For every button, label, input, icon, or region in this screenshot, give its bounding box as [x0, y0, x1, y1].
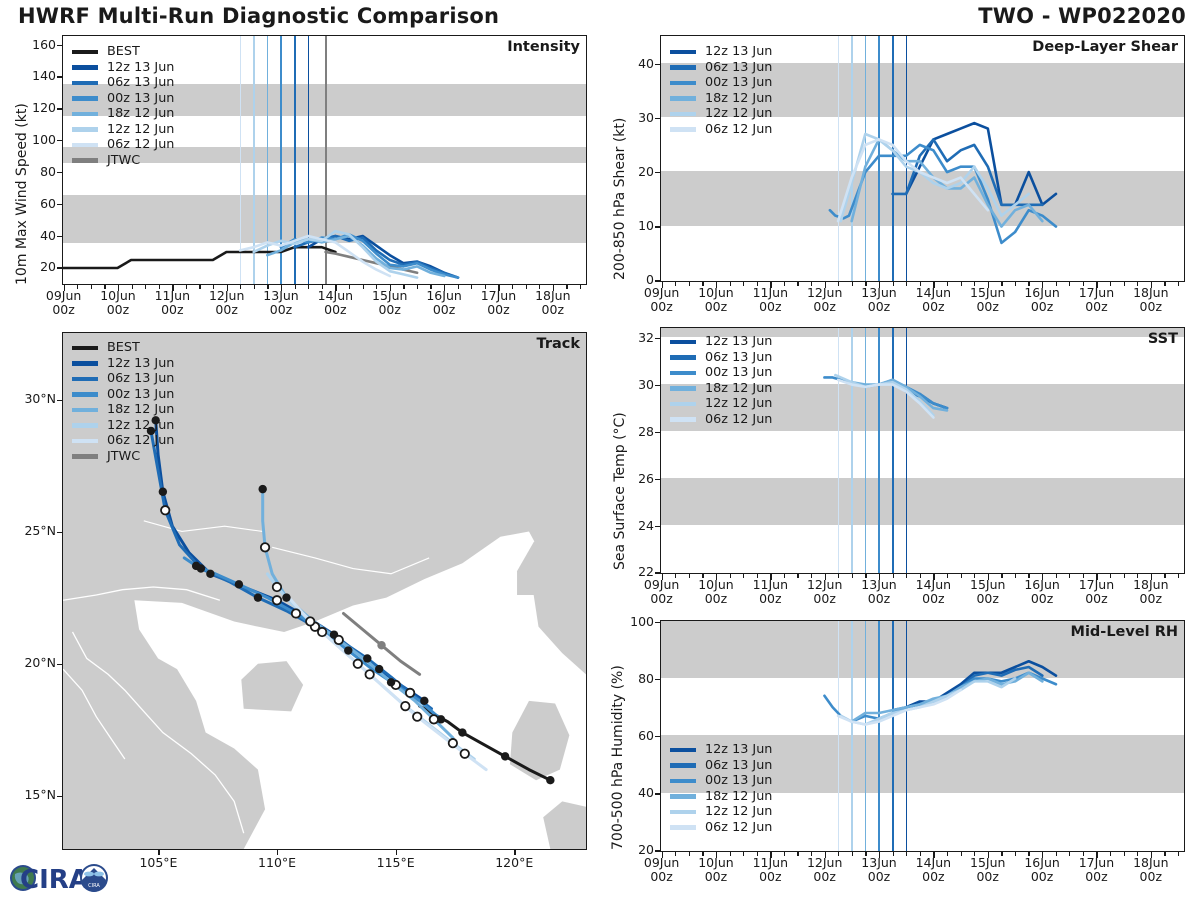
- y-tick-mark: [655, 736, 660, 737]
- lon-tick-mark: [396, 850, 397, 855]
- lat-tick-label: 20°N: [0, 655, 56, 670]
- legend-item: 06z 12 Jun: [72, 137, 174, 153]
- x-tick-mark: [553, 285, 554, 291]
- y-tick-mark: [655, 622, 660, 623]
- legend-label: 18z 12 Jun: [705, 789, 772, 805]
- x-tick-label: 16Jun00z: [1012, 578, 1072, 606]
- legend-item: 06z 12 Jun: [670, 412, 772, 428]
- y-tick-mark: [57, 76, 62, 77]
- x-minor-tick: [295, 285, 296, 289]
- x-minor-tick: [1015, 852, 1016, 856]
- x-tick-hour: 00z: [705, 591, 727, 606]
- x-tick-hour: 00z: [215, 302, 237, 317]
- legend-swatch: [72, 50, 98, 55]
- x-tick-mark: [933, 282, 934, 288]
- x-tick-hour: 00z: [813, 299, 835, 314]
- x-tick-label: 17Jun00z: [1066, 856, 1126, 884]
- x-tick-mark: [770, 852, 771, 858]
- x-tick-mark: [118, 285, 119, 291]
- x-tick-hour: 00z: [650, 869, 672, 884]
- y-tick-label: 28: [612, 424, 654, 439]
- x-minor-tick: [689, 574, 690, 578]
- x-tick-label: 18Jun00z: [523, 289, 583, 317]
- legend-swatch: [670, 417, 696, 422]
- x-tick-mark: [662, 282, 663, 288]
- shear-panel-title: Deep-Layer Shear: [1032, 39, 1178, 55]
- legend-swatch: [72, 346, 98, 351]
- y-tick-label: 120: [14, 100, 56, 115]
- x-minor-tick: [838, 574, 839, 578]
- y-tick-label: 40: [612, 785, 654, 800]
- x-tick-hour: 00z: [1031, 299, 1053, 314]
- x-minor-tick: [1178, 282, 1179, 286]
- x-minor-tick: [838, 282, 839, 286]
- track-marker: [292, 609, 300, 617]
- x-tick-hour: 00z: [542, 302, 564, 317]
- y-tick-label: 32: [612, 330, 654, 345]
- track-marker: [206, 570, 214, 578]
- x-minor-tick: [308, 285, 309, 289]
- y-tick-mark: [655, 850, 660, 851]
- legend-swatch: [72, 361, 98, 366]
- x-tick-mark: [1151, 282, 1152, 288]
- track-marker: [461, 750, 469, 758]
- legend-swatch: [670, 65, 696, 70]
- legend-swatch: [72, 112, 98, 117]
- x-minor-tick: [689, 282, 690, 286]
- x-minor-tick: [1178, 852, 1179, 856]
- x-tick-label: 15Jun00z: [958, 286, 1018, 314]
- legend-swatch: [670, 50, 696, 55]
- x-tick-label: 09Jun00z: [632, 856, 692, 884]
- x-tick-mark: [988, 282, 989, 288]
- x-tick-mark: [825, 852, 826, 858]
- x-tick-hour: 00z: [922, 299, 944, 314]
- y-tick-mark: [655, 172, 660, 173]
- y-tick-label: 30: [612, 377, 654, 392]
- x-tick-mark: [1042, 852, 1043, 858]
- x-minor-tick: [797, 282, 798, 286]
- legend-label: BEST: [107, 44, 140, 60]
- x-tick-mark: [662, 574, 663, 580]
- legend-label: 12z 13 Jun: [705, 742, 772, 758]
- track-marker: [254, 593, 262, 601]
- legend-label: 12z 12 Jun: [705, 804, 772, 820]
- x-minor-tick: [675, 282, 676, 286]
- x-tick-hour: 00z: [1140, 299, 1162, 314]
- x-tick-mark: [879, 574, 880, 580]
- series-line: [838, 380, 933, 418]
- y-tick-mark: [57, 204, 62, 205]
- x-minor-tick: [730, 574, 731, 578]
- x-minor-tick: [743, 282, 744, 286]
- x-tick-hour: 00z: [52, 302, 74, 317]
- lon-tick-mark: [514, 850, 515, 855]
- x-tick-label: 11Jun00z: [740, 286, 800, 314]
- legend-label: 06z 13 Jun: [107, 371, 174, 387]
- legend-item: 06z 13 Jun: [670, 350, 772, 366]
- legend-label: 06z 13 Jun: [107, 75, 174, 91]
- legend-item: 18z 12 Jun: [670, 91, 772, 107]
- x-tick-mark: [444, 285, 445, 291]
- lon-tick-label: 105°E: [123, 856, 193, 870]
- legend-item: 00z 13 Jun: [670, 75, 772, 91]
- x-minor-tick: [77, 285, 78, 289]
- legend-swatch: [670, 127, 696, 132]
- x-minor-tick: [1164, 282, 1165, 286]
- legend-swatch: [72, 127, 98, 132]
- x-minor-tick: [852, 282, 853, 286]
- x-minor-tick: [1069, 574, 1070, 578]
- x-minor-tick: [349, 285, 350, 289]
- legend-label: 18z 12 Jun: [705, 381, 772, 397]
- legend-swatch: [670, 340, 696, 345]
- x-minor-tick: [675, 574, 676, 578]
- x-tick-label: 10Jun00z: [686, 578, 746, 606]
- legend-label: 00z 13 Jun: [107, 91, 174, 107]
- track-marker: [161, 506, 169, 514]
- legend-item: 06z 13 Jun: [72, 371, 174, 387]
- track-marker: [261, 543, 269, 551]
- china-province-line: [272, 547, 429, 573]
- x-minor-tick: [893, 852, 894, 856]
- x-tick-hour: 00z: [1031, 591, 1053, 606]
- y-tick-label: 26: [612, 471, 654, 486]
- x-minor-tick: [1056, 574, 1057, 578]
- legend-item: 00z 13 Jun: [72, 91, 174, 107]
- legend-label: JTWC: [107, 153, 140, 169]
- legend-swatch: [72, 392, 98, 397]
- legend-swatch: [72, 408, 98, 413]
- series-line: [830, 145, 1056, 243]
- x-tick-label: 14Jun00z: [903, 856, 963, 884]
- track-marker: [159, 488, 167, 496]
- legend-item: 00z 13 Jun: [670, 773, 772, 789]
- x-minor-tick: [1001, 852, 1002, 856]
- x-minor-tick: [961, 282, 962, 286]
- x-tick-label: 15Jun00z: [958, 578, 1018, 606]
- lon-tick-label: 120°E: [479, 856, 549, 870]
- legend-item: JTWC: [72, 153, 174, 169]
- y-tick-label: 80: [612, 671, 654, 686]
- legend-label: 06z 12 Jun: [107, 137, 174, 153]
- rh-legend: 12z 13 Jun06z 13 Jun00z 13 Jun18z 12 Jun…: [670, 742, 772, 835]
- track-panel-title: Track: [537, 336, 580, 352]
- x-minor-tick: [947, 282, 948, 286]
- x-minor-tick: [784, 574, 785, 578]
- y-tick-label: 60: [612, 728, 654, 743]
- legend-label: 06z 12 Jun: [705, 820, 772, 836]
- legend-label: 00z 13 Jun: [107, 387, 174, 403]
- legend-item: 12z 12 Jun: [670, 804, 772, 820]
- legend-swatch: [670, 81, 696, 86]
- x-tick-hour: 00z: [1085, 869, 1107, 884]
- legend-label: 06z 12 Jun: [705, 412, 772, 428]
- y-tick-label: 60: [14, 196, 56, 211]
- legend-item: 18z 12 Jun: [670, 789, 772, 805]
- series-line: [63, 247, 335, 268]
- x-minor-tick: [1110, 852, 1111, 856]
- legend-item: JTWC: [72, 449, 174, 465]
- x-minor-tick: [1124, 282, 1125, 286]
- x-tick-mark: [825, 574, 826, 580]
- x-tick-hour: 00z: [161, 302, 183, 317]
- lat-tick-label: 15°N: [0, 787, 56, 802]
- x-tick-hour: 00z: [1140, 869, 1162, 884]
- intensity-y-axis-label: 10m Max Wind Speed (kt): [14, 103, 30, 285]
- legend-label: 12z 12 Jun: [705, 396, 772, 412]
- x-tick-label: 09Jun00z: [34, 289, 94, 317]
- cira-logo-graphic: CIRA CIRA: [6, 858, 110, 898]
- track-marker: [501, 752, 509, 760]
- x-minor-tick: [947, 574, 948, 578]
- x-minor-tick: [961, 852, 962, 856]
- x-tick-hour: 00z: [705, 869, 727, 884]
- legend-swatch: [670, 763, 696, 768]
- legend-swatch: [72, 65, 98, 70]
- x-minor-tick: [730, 852, 731, 856]
- x-minor-tick: [471, 285, 472, 289]
- x-tick-label: 10Jun00z: [686, 286, 746, 314]
- x-minor-tick: [1110, 282, 1111, 286]
- y-tick-label: 140: [14, 68, 56, 83]
- legend-swatch: [670, 748, 696, 753]
- legend-item: 06z 13 Jun: [670, 60, 772, 76]
- x-minor-tick: [186, 285, 187, 289]
- track-marker: [318, 628, 326, 636]
- intensity-legend: BEST12z 13 Jun06z 13 Jun00z 13 Jun18z 12…: [72, 44, 174, 168]
- x-minor-tick: [91, 285, 92, 289]
- legend-label: 12z 13 Jun: [107, 356, 174, 372]
- x-tick-mark: [879, 282, 880, 288]
- legend-label: 12z 12 Jun: [107, 418, 174, 434]
- legend-label: 12z 13 Jun: [705, 334, 772, 350]
- x-tick-label: 11Jun00z: [142, 289, 202, 317]
- legend-swatch: [670, 402, 696, 407]
- lat-tick-label: 25°N: [0, 523, 56, 538]
- x-minor-tick: [1124, 574, 1125, 578]
- y-tick-label: 160: [14, 37, 56, 52]
- x-tick-mark: [1096, 574, 1097, 580]
- y-tick-label: 100: [612, 614, 654, 629]
- x-tick-hour: 00z: [324, 302, 346, 317]
- legend-item: 18z 12 Jun: [72, 402, 174, 418]
- track-marker: [365, 670, 373, 678]
- x-minor-tick: [689, 852, 690, 856]
- x-tick-label: 16Jun00z: [1012, 856, 1072, 884]
- track-marker: [282, 593, 290, 601]
- legend-item: 00z 13 Jun: [72, 387, 174, 403]
- x-tick-hour: 00z: [868, 299, 890, 314]
- x-tick-label: 09Jun00z: [632, 286, 692, 314]
- china-province-line-2: [144, 521, 263, 532]
- y-tick-mark: [655, 64, 660, 65]
- x-tick-hour: 00z: [759, 299, 781, 314]
- track-marker: [406, 689, 414, 697]
- legend-label: 06z 13 Jun: [705, 60, 772, 76]
- legend-label: 18z 12 Jun: [107, 402, 174, 418]
- x-minor-tick: [417, 285, 418, 289]
- x-tick-hour: 00z: [650, 591, 672, 606]
- y-tick-mark: [655, 280, 660, 281]
- x-tick-label: 15Jun00z: [958, 856, 1018, 884]
- x-minor-tick: [512, 285, 513, 289]
- x-tick-hour: 00z: [759, 869, 781, 884]
- legend-label: 12z 12 Jun: [705, 106, 772, 122]
- track-marker: [192, 562, 200, 570]
- x-minor-tick: [1069, 282, 1070, 286]
- x-tick-mark: [281, 285, 282, 291]
- x-minor-tick: [675, 852, 676, 856]
- x-tick-mark: [1096, 282, 1097, 288]
- x-tick-mark: [770, 282, 771, 288]
- x-minor-tick: [1015, 282, 1016, 286]
- x-tick-mark: [498, 285, 499, 291]
- x-minor-tick: [458, 285, 459, 289]
- x-minor-tick: [1069, 852, 1070, 856]
- legend-item: 06z 12 Jun: [670, 820, 772, 836]
- legend-swatch: [670, 112, 696, 117]
- x-tick-label: 12Jun00z: [795, 578, 855, 606]
- sst-legend: 12z 13 Jun06z 13 Jun00z 13 Jun18z 12 Jun…: [670, 334, 772, 427]
- rh-panel-title: Mid-Level RH: [1071, 624, 1178, 640]
- x-tick-label: 18Jun00z: [1121, 286, 1181, 314]
- x-minor-tick: [526, 285, 527, 289]
- track-marker: [449, 739, 457, 747]
- y-tick-mark: [655, 432, 660, 433]
- x-tick-label: 11Jun00z: [740, 578, 800, 606]
- legend-label: 06z 13 Jun: [705, 350, 772, 366]
- y-tick-label: 80: [14, 164, 56, 179]
- x-tick-label: 11Jun00z: [740, 856, 800, 884]
- track-marker: [235, 580, 243, 588]
- x-minor-tick: [199, 285, 200, 289]
- x-tick-label: 17Jun00z: [1066, 578, 1126, 606]
- x-tick-mark: [770, 574, 771, 580]
- x-tick-hour: 00z: [487, 302, 509, 317]
- track-marker: [306, 617, 314, 625]
- legend-swatch: [670, 371, 696, 376]
- x-tick-label: 09Jun00z: [632, 578, 692, 606]
- track-marker: [335, 636, 343, 644]
- x-tick-hour: 00z: [705, 299, 727, 314]
- x-tick-label: 15Jun00z: [360, 289, 420, 317]
- x-tick-mark: [1151, 852, 1152, 858]
- x-minor-tick: [1178, 574, 1179, 578]
- x-minor-tick: [743, 574, 744, 578]
- x-minor-tick: [784, 852, 785, 856]
- storm-identifier: TWO - WP022020: [978, 4, 1186, 28]
- y-tick-label: 24: [612, 518, 654, 533]
- x-tick-hour: 00z: [1085, 591, 1107, 606]
- legend-item: 12z 13 Jun: [72, 356, 174, 372]
- lat-tick-mark: [57, 532, 62, 533]
- y-tick-label: 40: [612, 56, 654, 71]
- track-marker: [363, 654, 371, 662]
- x-tick-label: 10Jun00z: [686, 856, 746, 884]
- legend-swatch: [72, 158, 98, 163]
- y-tick-mark: [655, 338, 660, 339]
- track-marker: [375, 665, 383, 673]
- lat-tick-mark: [57, 796, 62, 797]
- x-minor-tick: [797, 574, 798, 578]
- legend-item: 06z 12 Jun: [670, 122, 772, 138]
- track-marker: [344, 646, 352, 654]
- legend-swatch: [72, 143, 98, 148]
- x-tick-mark: [1042, 574, 1043, 580]
- x-tick-mark: [172, 285, 173, 291]
- x-tick-label: 12Jun00z: [795, 286, 855, 314]
- x-minor-tick: [1124, 852, 1125, 856]
- x-tick-hour: 00z: [868, 591, 890, 606]
- track-marker: [401, 702, 409, 710]
- legend-swatch: [670, 779, 696, 784]
- legend-label: BEST: [107, 340, 140, 356]
- x-minor-tick: [363, 285, 364, 289]
- lat-tick-mark: [57, 664, 62, 665]
- y-tick-mark: [57, 267, 62, 268]
- legend-label: 18z 12 Jun: [705, 91, 772, 107]
- x-tick-label: 14Jun00z: [903, 578, 963, 606]
- x-tick-mark: [879, 852, 880, 858]
- x-tick-hour: 00z: [922, 591, 944, 606]
- x-tick-mark: [1042, 282, 1043, 288]
- legend-item: 06z 12 Jun: [72, 433, 174, 449]
- intensity-panel-title: Intensity: [507, 39, 580, 55]
- shear-legend: 12z 13 Jun06z 13 Jun00z 13 Jun18z 12 Jun…: [670, 44, 772, 137]
- legend-item: 12z 12 Jun: [72, 122, 174, 138]
- legend-item: 12z 12 Jun: [670, 106, 772, 122]
- x-minor-tick: [1015, 574, 1016, 578]
- laos-border: [63, 669, 125, 759]
- lon-tick-mark: [158, 850, 159, 855]
- x-minor-tick: [852, 574, 853, 578]
- legend-item: 00z 13 Jun: [670, 365, 772, 381]
- x-tick-hour: 00z: [922, 869, 944, 884]
- y-tick-mark: [655, 793, 660, 794]
- x-minor-tick: [1056, 852, 1057, 856]
- y-tick-label: 40: [14, 228, 56, 243]
- legend-label: JTWC: [107, 449, 140, 465]
- y-tick-mark: [655, 479, 660, 480]
- legend-label: 00z 13 Jun: [705, 75, 772, 91]
- x-minor-tick: [852, 852, 853, 856]
- x-tick-label: 17Jun00z: [468, 289, 528, 317]
- legend-label: 12z 13 Jun: [705, 44, 772, 60]
- y-tick-mark: [57, 108, 62, 109]
- legend-label: 12z 13 Jun: [107, 60, 174, 76]
- shear-y-axis-label: 200-850 hPa Shear (kt): [612, 118, 628, 280]
- x-minor-tick: [1164, 852, 1165, 856]
- x-tick-hour: 00z: [868, 869, 890, 884]
- x-minor-tick: [893, 282, 894, 286]
- x-tick-hour: 00z: [650, 299, 672, 314]
- x-tick-mark: [64, 285, 65, 291]
- x-tick-label: 13Jun00z: [849, 578, 909, 606]
- lon-tick-label: 115°E: [361, 856, 431, 870]
- x-tick-mark: [227, 285, 228, 291]
- x-tick-label: 13Jun00z: [251, 289, 311, 317]
- legend-swatch: [72, 439, 98, 444]
- y-tick-label: 20: [612, 164, 654, 179]
- x-minor-tick: [1056, 282, 1057, 286]
- legend-label: 06z 12 Jun: [705, 122, 772, 138]
- y-tick-label: 30: [612, 110, 654, 125]
- x-minor-tick: [947, 852, 948, 856]
- x-tick-mark: [716, 852, 717, 858]
- y-tick-mark: [655, 385, 660, 386]
- x-tick-hour: 00z: [813, 591, 835, 606]
